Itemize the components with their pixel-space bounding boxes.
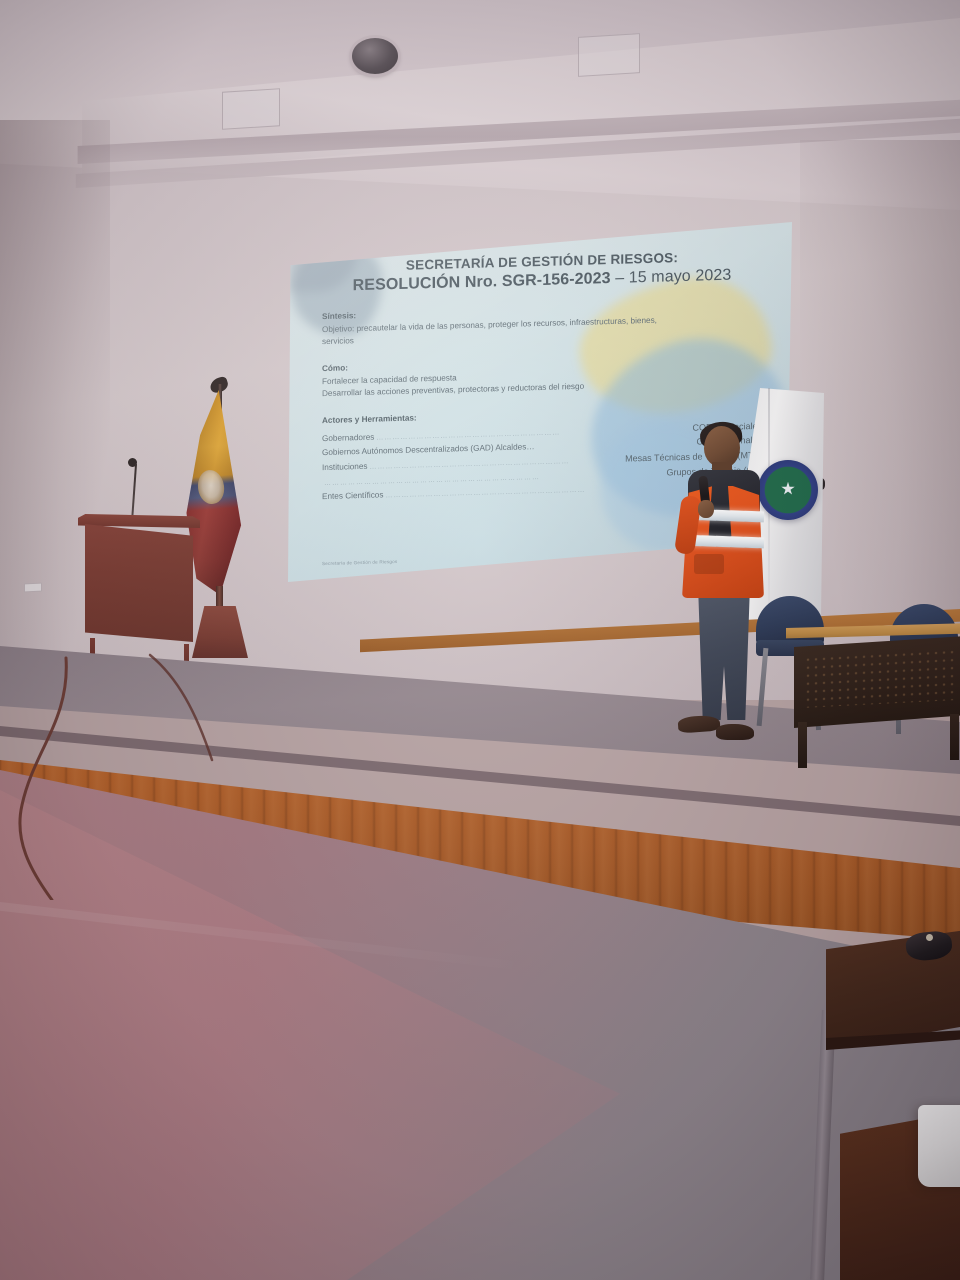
white-cup <box>918 1105 960 1187</box>
stage-table-leg <box>798 722 807 768</box>
slide-footer-organization: Secretaría de Gestión de Riesgos <box>322 559 397 566</box>
stage-table-leg <box>950 714 959 760</box>
presenter <box>672 424 780 764</box>
ceiling-speaker-dome <box>352 38 398 74</box>
actores-row-left: Entes Científicos <box>322 488 383 503</box>
stage-table <box>786 622 960 762</box>
actores-row-left: Instituciones <box>322 460 368 475</box>
slide-section-sintesis: Síntesis: Objetivo: precautelar la vida … <box>322 299 762 349</box>
presenter-trousers <box>696 592 752 720</box>
vest-pocket <box>694 554 724 574</box>
presenter-shoe <box>677 715 720 734</box>
actores-row-left: Gobernadores <box>322 430 374 445</box>
photo-scene: SECRETARÍA DE GESTIÓN DE RIESGOS: RESOLU… <box>0 0 960 1280</box>
ceiling-panel-left <box>222 88 280 130</box>
stage-table-lattice <box>804 648 954 708</box>
slide-section-como: Cómo: Fortalecer la capacidad de respues… <box>322 351 762 401</box>
ceiling-panel-right <box>578 33 640 77</box>
slide-title-date: – 15 mayo 2023 <box>615 267 731 287</box>
power-cable <box>0 600 500 900</box>
leader-dots <box>537 445 695 449</box>
wall-outlet <box>24 583 42 593</box>
star-icon <box>781 482 795 496</box>
presenter-shoe <box>716 724 754 740</box>
desk-object-highlight <box>926 934 933 941</box>
presenter-hand <box>698 500 714 518</box>
